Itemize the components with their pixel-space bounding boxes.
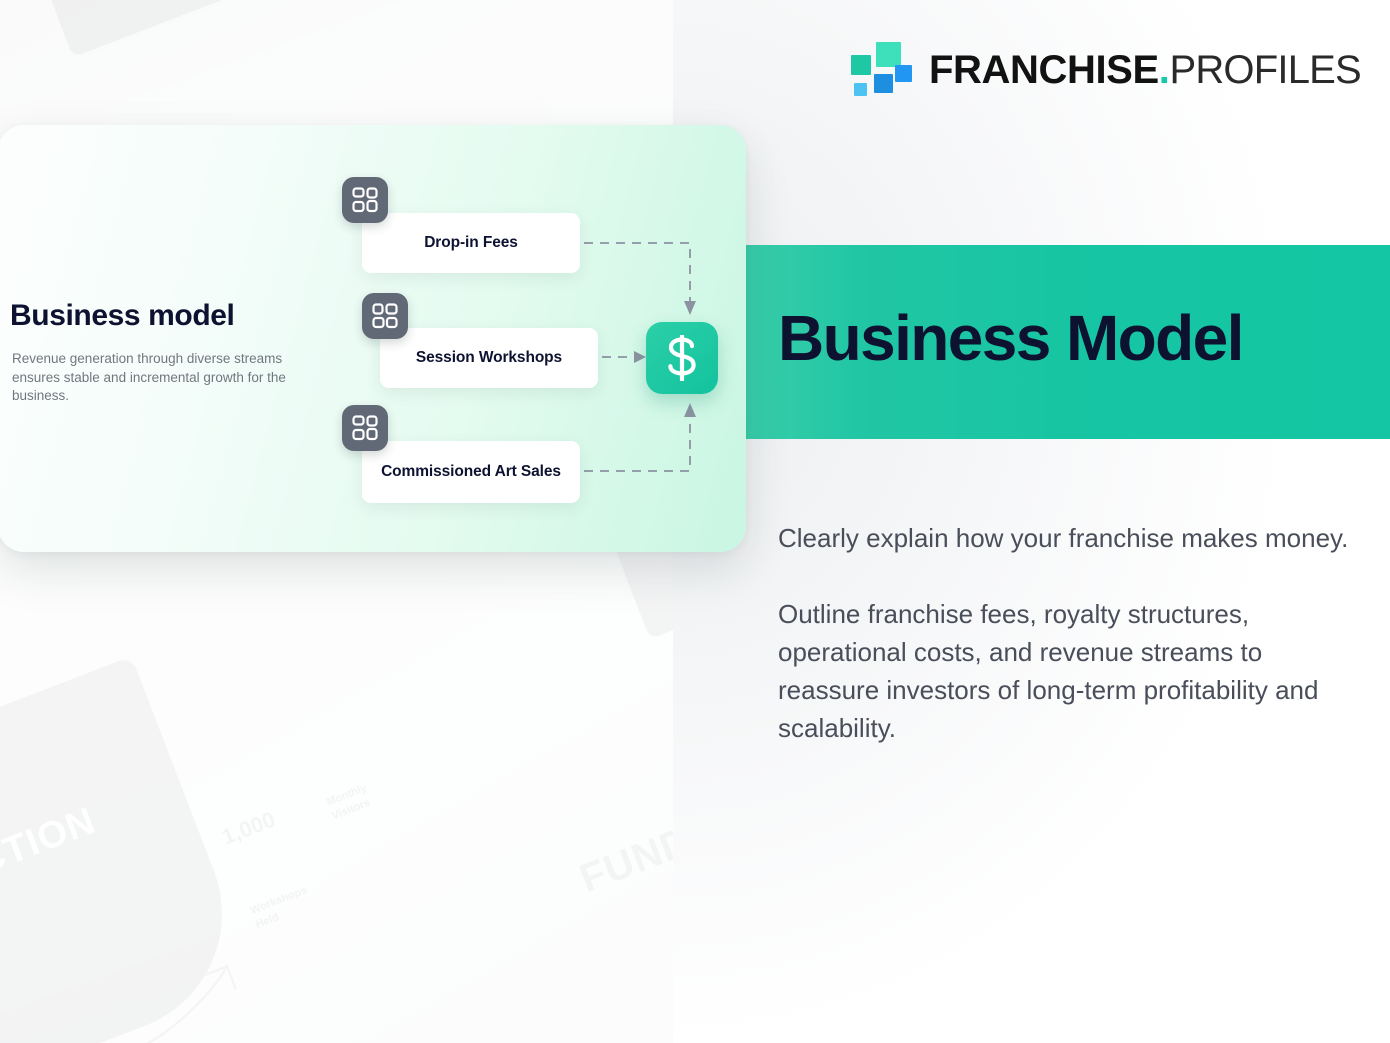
watermark-stat-value: 1,000 — [218, 807, 279, 851]
revenue-node-commissioned-art-sales[interactable]: Commissioned Art Sales — [362, 441, 580, 503]
brand-wordmark: FRANCHISE . PROFILES — [929, 50, 1361, 90]
squares-mark-icon — [851, 42, 907, 98]
body-copy: Clearly explain how your franchise makes… — [778, 520, 1350, 748]
dollar-sign-icon — [646, 322, 718, 394]
watermark-deck-bar — [0, 0, 11, 71]
slide-root: MARKET spaces in urban and a substantial… — [0, 0, 1390, 1043]
watermark-stat-label: Monthly Visitors — [325, 781, 375, 825]
grid-layout-icon — [362, 293, 408, 339]
card-subtext: Revenue generation through diverse strea… — [12, 350, 312, 406]
revenue-node-drop-in-fees[interactable]: Drop-in Fees — [362, 213, 580, 273]
grid-layout-icon — [342, 405, 388, 451]
preview-card: Business model Revenue generation throug… — [0, 125, 746, 552]
node-label: Drop-in Fees — [424, 234, 518, 253]
logo-text-thin: PROFILES — [1169, 50, 1360, 90]
logo-text-bold: FRANCHISE — [929, 50, 1159, 90]
watermark-stat-label: Workshops Held — [248, 883, 315, 933]
body-paragraph-2: Outline franchise fees, royalty structur… — [778, 596, 1350, 748]
grid-layout-icon — [342, 177, 388, 223]
revenue-node-session-workshops[interactable]: Session Workshops — [380, 328, 598, 388]
node-label: Commissioned Art Sales — [381, 463, 561, 482]
card-heading: Business model — [10, 301, 234, 331]
node-label: Session Workshops — [416, 349, 562, 368]
logo-text-dot: . — [1159, 50, 1170, 90]
page-title: Business Model — [778, 306, 1243, 370]
watermark-slide-title: FUNDING — [574, 793, 673, 900]
brand-logo[interactable]: FRANCHISE . PROFILES — [851, 42, 1361, 98]
body-paragraph-1: Clearly explain how your franchise makes… — [778, 520, 1350, 558]
